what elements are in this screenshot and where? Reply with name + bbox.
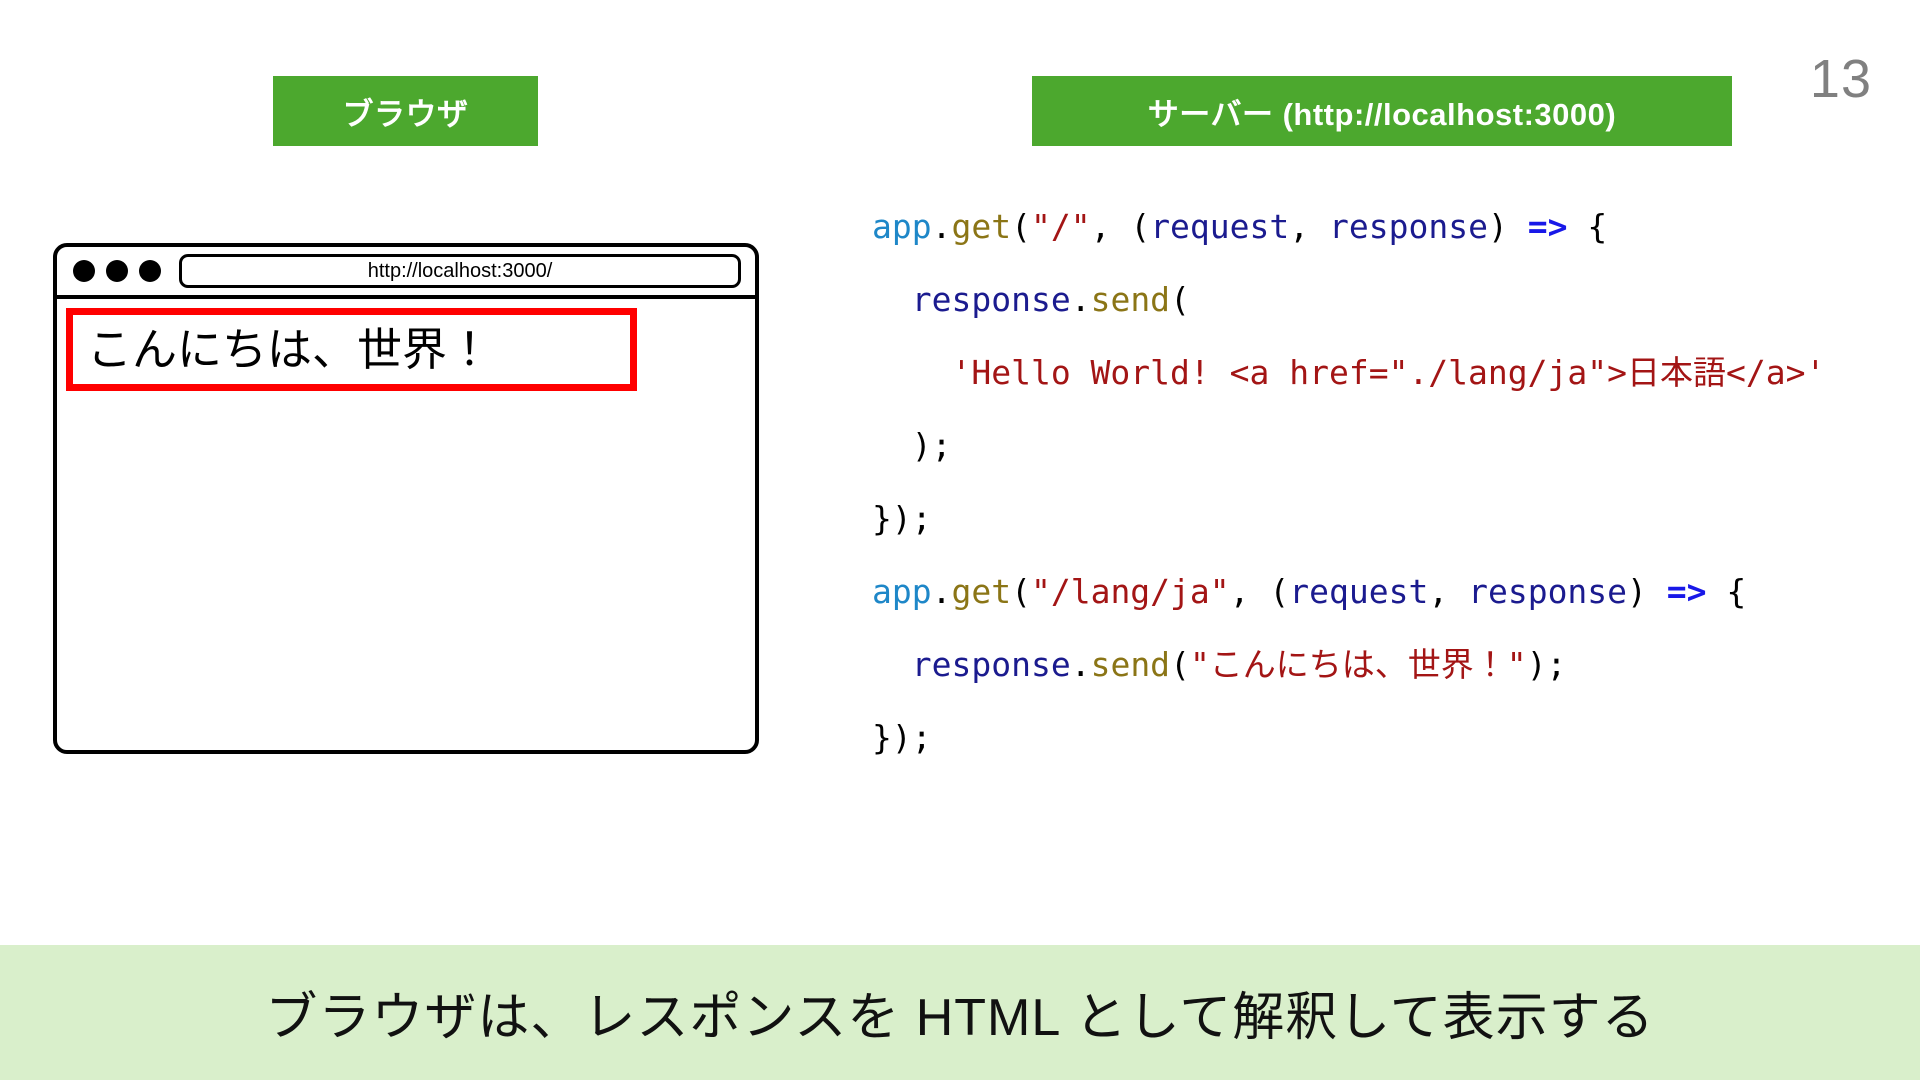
code-token-prop: get (951, 207, 1011, 246)
code-token-var: response (912, 280, 1071, 319)
traffic-light-close-icon (73, 260, 95, 282)
code-token-prop: get (951, 572, 1011, 611)
code-token-var: response (912, 645, 1071, 684)
traffic-lights (73, 260, 161, 282)
code-token-punct: , (1289, 207, 1329, 246)
code-token-var: response (1329, 207, 1488, 246)
code-token-punct: . (1071, 280, 1091, 319)
code-token-var: request (1289, 572, 1428, 611)
code-token-arrow: => (1667, 572, 1707, 611)
code-token-obj: app (872, 207, 932, 246)
code-token-punct: . (932, 572, 952, 611)
caption-band: ブラウザは、レスポンスを HTML として解釈して表示する (0, 945, 1920, 1080)
badge-browser: ブラウザ (273, 76, 538, 146)
code-token-str: "/" (1031, 207, 1091, 246)
code-token-punct: }); (872, 499, 932, 538)
code-line: }); (872, 701, 1825, 774)
code-token-punct: . (932, 207, 952, 246)
code-token-var: response (1468, 572, 1627, 611)
code-token-var: request (1150, 207, 1289, 246)
traffic-light-maximize-icon (139, 260, 161, 282)
code-token-punct: ); (872, 426, 951, 465)
code-token-punct: , ( (1091, 207, 1151, 246)
browser-viewport: こんにちは、世界！ (57, 299, 755, 750)
code-token-punct (872, 280, 912, 319)
badge-browser-label: ブラウザ (343, 89, 469, 134)
code-line: ); (872, 409, 1825, 482)
rendered-output-highlight: こんにちは、世界！ (66, 308, 637, 391)
code-token-punct: ( (1011, 207, 1031, 246)
caption-text: ブラウザは、レスポンスを HTML として解釈して表示する (265, 975, 1654, 1050)
address-bar[interactable]: http://localhost:3000/ (179, 254, 741, 288)
code-token-str: "こんにちは、世界！" (1190, 645, 1527, 684)
code-token-obj: app (872, 572, 932, 611)
browser-window-mock: http://localhost:3000/ こんにちは、世界！ (53, 243, 759, 754)
address-bar-value: http://localhost:3000/ (368, 260, 553, 283)
rendered-output-text: こんにちは、世界！ (87, 327, 492, 372)
code-line: app.get("/lang/ja", (request, response) … (872, 555, 1825, 628)
code-token-punct: ); (1527, 645, 1567, 684)
code-token-str: 'Hello World! <a href="./lang/ja">日本語</a… (951, 353, 1825, 392)
badge-server: サーバー (http://localhost:3000) (1032, 76, 1732, 146)
code-token-punct: }); (872, 718, 932, 757)
code-token-punct: ) (1488, 207, 1528, 246)
code-line: 'Hello World! <a href="./lang/ja">日本語</a… (872, 336, 1825, 409)
code-token-punct (872, 645, 912, 684)
code-line: app.get("/", (request, response) => { (872, 190, 1825, 263)
code-token-punct: ( (1011, 572, 1031, 611)
code-token-prop: send (1091, 280, 1170, 319)
code-token-punct: , ( (1230, 572, 1290, 611)
code-token-punct: ( (1170, 280, 1190, 319)
browser-chrome: http://localhost:3000/ (57, 247, 755, 299)
code-line: response.send("こんにちは、世界！"); (872, 628, 1825, 701)
code-block: app.get("/", (request, response) => { re… (872, 190, 1825, 774)
code-token-punct: { (1707, 572, 1747, 611)
code-line: response.send( (872, 263, 1825, 336)
code-token-punct: . (1071, 645, 1091, 684)
code-line: }); (872, 482, 1825, 555)
code-token-punct: ( (1170, 645, 1190, 684)
badge-server-label: サーバー (http://localhost:3000) (1148, 89, 1616, 134)
code-token-punct: { (1567, 207, 1607, 246)
code-token-punct (872, 353, 951, 392)
code-token-arrow: => (1528, 207, 1568, 246)
code-token-prop: send (1091, 645, 1170, 684)
page-number: 13 (1810, 52, 1872, 106)
code-token-punct: , (1428, 572, 1468, 611)
traffic-light-minimize-icon (106, 260, 128, 282)
code-token-str: "/lang/ja" (1031, 572, 1230, 611)
code-token-punct: ) (1627, 572, 1667, 611)
